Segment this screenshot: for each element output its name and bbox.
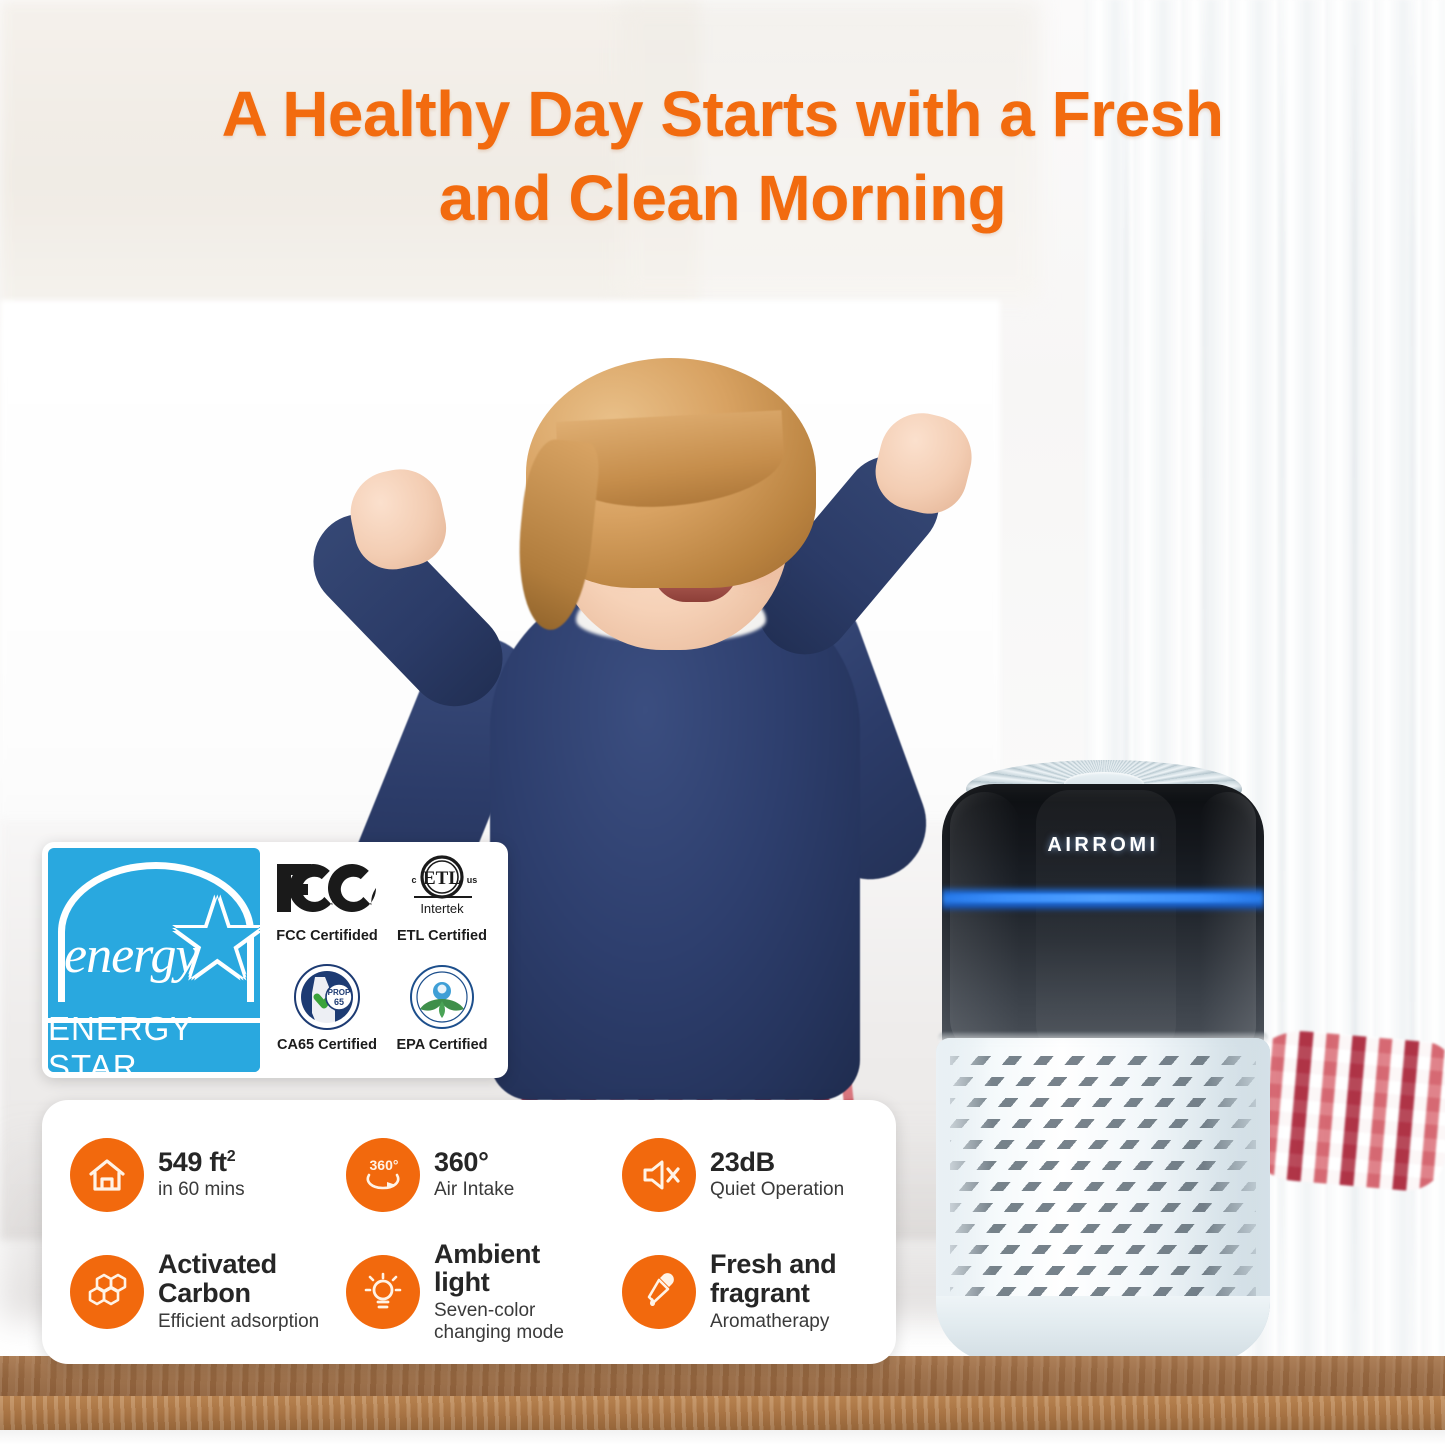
feature-aroma: Fresh and fragrant Aromatherapy xyxy=(610,1233,886,1350)
badge-epa-label: EPA Certified xyxy=(396,1037,487,1053)
rotation-360-icon: 360° xyxy=(346,1138,420,1212)
headline-line-2: and Clean Morning xyxy=(439,162,1007,234)
feature-carbon: Activated Carbon Efficient adsorption xyxy=(58,1233,334,1350)
badge-fcc: FCC Certifided xyxy=(270,852,384,961)
product-upper-dark-shell: AIRROMI xyxy=(942,784,1264,1056)
svg-text:Intertek: Intertek xyxy=(420,901,464,916)
svg-text:c: c xyxy=(411,875,416,885)
feature-coverage-sub: in 60 mins xyxy=(158,1179,245,1201)
svg-text:us: us xyxy=(467,875,478,885)
feature-aroma-title: Fresh and fragrant xyxy=(710,1250,836,1307)
svg-text:PROP: PROP xyxy=(328,988,351,997)
dropper-aroma-icon xyxy=(622,1255,696,1329)
badge-epa: EPA Certified xyxy=(384,961,500,1070)
badge-ca65-label: CA65 Certified xyxy=(277,1037,377,1053)
feature-ambient-light: Ambient light Seven-color changing mode xyxy=(334,1233,610,1350)
feature-air-intake: 360° 360° Air Intake xyxy=(334,1116,610,1233)
feature-air-intake-title: 360° xyxy=(434,1148,514,1177)
feature-noise-sub: Quiet Operation xyxy=(710,1179,844,1201)
product-base xyxy=(936,1296,1270,1362)
feature-ambient-light-title: Ambient light xyxy=(434,1240,564,1297)
child-torso xyxy=(490,580,860,1100)
fcc-logo-icon xyxy=(275,852,379,924)
product-lower-body xyxy=(936,1038,1270,1362)
certification-badge-grid: FCC Certifided ETL c us Intertek ETL Cer… xyxy=(260,848,502,1072)
lightbulb-icon xyxy=(346,1255,420,1329)
feature-air-intake-sub: Air Intake xyxy=(434,1179,514,1201)
svg-text:65: 65 xyxy=(334,997,344,1007)
badge-etl: ETL c us Intertek ETL Certified xyxy=(384,852,500,961)
feature-coverage-title: 549 ft2 xyxy=(158,1148,245,1177)
under-table-area xyxy=(0,1430,1445,1445)
epa-logo-icon xyxy=(408,961,476,1033)
feature-aroma-sub: Aromatherapy xyxy=(710,1311,836,1333)
feature-noise-title: 23dB xyxy=(710,1148,844,1177)
svg-text:360°: 360° xyxy=(370,1157,399,1173)
house-icon xyxy=(70,1138,144,1212)
headline-line-1: A Healthy Day Starts with a Fresh xyxy=(222,78,1224,150)
feature-noise: 23dB Quiet Operation xyxy=(610,1116,886,1233)
shell-front-face xyxy=(1036,790,1176,1056)
star-icon: ★ xyxy=(168,898,254,984)
badge-ca65: PROP 65 CA65 Certified xyxy=(270,961,384,1070)
wooden-table-edge xyxy=(0,1396,1445,1432)
page-title: A Healthy Day Starts with a Fresh and Cl… xyxy=(0,72,1445,241)
certifications-card: energy ★ ENERGY STAR FCC Certifided xyxy=(42,842,508,1078)
speaker-mute-icon xyxy=(622,1138,696,1212)
etl-intertek-logo-icon: ETL c us Intertek xyxy=(384,852,500,924)
air-purifier-product: AIRROMI xyxy=(928,760,1278,1400)
energy-star-label: ENERGY STAR xyxy=(48,1018,260,1072)
feature-carbon-title: Activated Carbon xyxy=(158,1250,319,1307)
energy-star-badge: energy ★ ENERGY STAR xyxy=(48,848,260,1072)
shell-sheen-left xyxy=(950,792,1020,1054)
feature-coverage: 549 ft2 in 60 mins xyxy=(58,1116,334,1233)
features-card: 549 ft2 in 60 mins 360° 360° Air Intake xyxy=(42,1100,896,1364)
honeycomb-carbon-icon xyxy=(70,1255,144,1329)
product-brand-logo: AIRROMI xyxy=(942,834,1264,857)
led-core-line xyxy=(948,894,1258,902)
svg-text:ETL: ETL xyxy=(423,868,461,889)
feature-carbon-sub: Efficient adsorption xyxy=(158,1311,319,1333)
badge-fcc-label: FCC Certifided xyxy=(276,928,378,944)
ca-prop65-logo-icon: PROP 65 xyxy=(293,961,361,1033)
shell-sheen-right xyxy=(1200,792,1256,1054)
feature-ambient-light-sub: Seven-color changing mode xyxy=(434,1300,564,1344)
product-marketing-image: AIRROMI A Healthy Day Starts with a Fres… xyxy=(0,0,1445,1445)
badge-etl-label: ETL Certified xyxy=(397,928,487,944)
